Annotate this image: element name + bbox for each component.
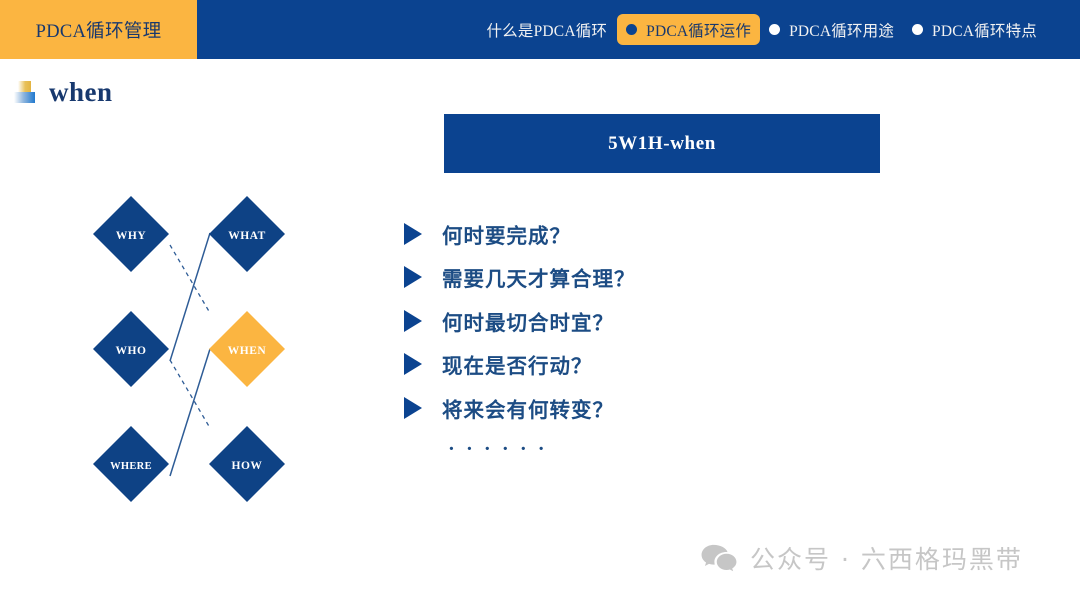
triangle-bullet-icon [404,223,422,245]
list-item-label: 将来会有何转变？ [442,393,614,423]
link-when-where [170,349,210,476]
tab-pdca-features[interactable]: PDCA循环特点 [903,14,1046,45]
section-header: when [14,77,113,108]
5w1h-diamond-diagram: WHY WHAT WHO WHEN WHERE HOW [60,185,360,515]
bullet-dot-icon [769,24,780,35]
tab-pdca-operation[interactable]: PDCA循环运作 [617,14,760,45]
diamond-label-what: WHAT [228,230,266,242]
triangle-bullet-icon [404,266,422,288]
panel-title: 5W1H-when [608,133,716,155]
list-item: 需要几天才算合理？ [404,256,904,300]
watermark-label: 公众号 · 六西格玛黑带 [750,540,1023,576]
diamond-node-who[interactable]: WHO [93,311,169,387]
list-item: 何时最切合时宜？ [404,299,904,343]
panel-title-box: 5W1H-when [444,114,880,173]
wechat-icon [700,543,738,573]
diamond-node-how[interactable]: HOW [209,426,285,502]
brand-badge: PDCA循环管理 [0,0,197,59]
brand-title: PDCA循环管理 [36,17,162,43]
diamond-label-where: WHERE [110,461,152,472]
list-ellipsis: · · · · · · [404,430,904,470]
diamond-node-why[interactable]: WHY [93,196,169,272]
list-item-label: 何时最切合时宜？ [442,306,614,336]
triangle-bullet-icon [404,353,422,375]
diamond-label-why: WHY [116,230,146,242]
diamond-label-who: WHO [116,345,147,357]
tab-what-is-pdca-label: 什么是PDCA循环 [486,19,607,41]
diagram-canvas: WHY WHAT WHO WHEN WHERE HOW [60,185,360,515]
bullet-dot-icon [626,24,637,35]
top-header-bar: PDCA循环管理 什么是PDCA循环 PDCA循环运作 PDCA循环用途 PDC… [0,0,1080,59]
tab-pdca-features-label: PDCA循环特点 [932,19,1037,41]
diamond-label-when: WHEN [228,345,267,357]
list-item: 将来会有何转变？ [404,386,904,430]
tab-pdca-usage-label: PDCA循环用途 [789,19,894,41]
list-item: 何时要完成？ [404,212,904,256]
list-item-label: 需要几天才算合理？ [442,262,636,292]
triangle-bullet-icon [404,397,422,419]
triangle-bullet-icon [404,310,422,332]
diamond-node-what[interactable]: WHAT [209,196,285,272]
tab-pdca-usage[interactable]: PDCA循环用途 [760,14,903,45]
two-squares-icon [14,81,40,105]
nav-tabs: 什么是PDCA循环 PDCA循环运作 PDCA循环用途 PDCA循环特点 [484,0,1046,59]
bullet-dot-icon [912,24,923,35]
list-item: 现在是否行动？ [404,343,904,387]
tab-what-is-pdca[interactable]: 什么是PDCA循环 [484,14,617,45]
diamond-label-how: HOW [232,460,263,472]
watermark: 公众号 · 六西格玛黑带 [700,540,1023,576]
diamond-node-when[interactable]: WHEN [209,311,285,387]
page-title: when [49,77,113,108]
question-list: 何时要完成？ 需要几天才算合理？ 何时最切合时宜？ 现在是否行动？ 将来会有何转… [404,212,904,470]
diamond-node-where[interactable]: WHERE [93,426,169,502]
list-item-label: 现在是否行动？ [442,349,593,379]
link-what-who [170,233,210,361]
link-why-when [170,245,210,313]
list-item-label: 何时要完成？ [442,219,571,249]
ellipsis-label: · · · · · · [448,438,548,461]
tab-pdca-operation-label: PDCA循环运作 [646,19,751,41]
